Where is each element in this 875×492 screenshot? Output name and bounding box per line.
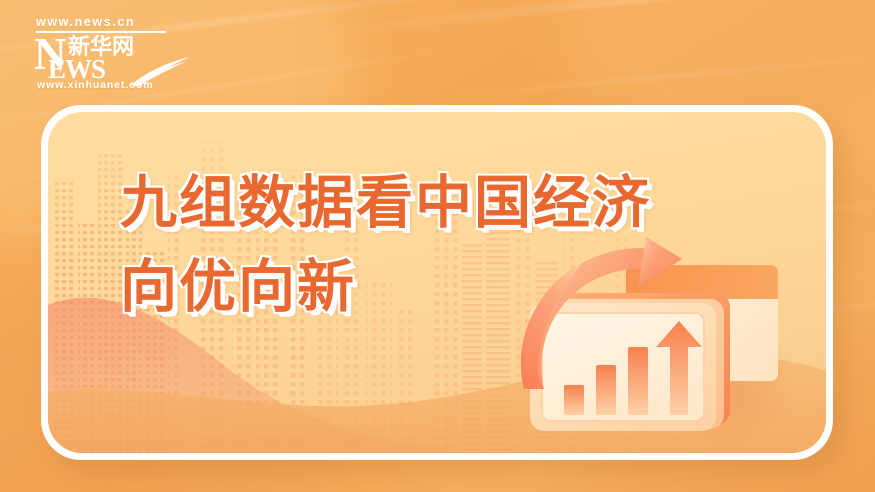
light-streak <box>300 0 875 39</box>
logo-wordmark: N 新华网 EWS <box>34 34 184 80</box>
headline-card: 九组数据看中国经济 向优向新 <box>41 105 833 460</box>
chart-bar <box>596 365 616 415</box>
economy-growth-illustration <box>506 237 806 447</box>
chart-bar <box>628 347 648 415</box>
logo-news-word: EWS <box>48 56 105 83</box>
swoosh-icon <box>130 56 192 86</box>
poster-root: www.news.cn N 新华网 EWS www.xinhuanet.com <box>0 0 875 492</box>
headline-line-2: 向优向新 <box>120 251 550 323</box>
headline-card-inner: 九组数据看中国经济 向优向新 <box>48 112 826 453</box>
light-streak <box>430 50 875 100</box>
headline-line-1: 九组数据看中国经济 <box>120 167 550 239</box>
xinhuanet-logo[interactable]: www.news.cn N 新华网 EWS www.xinhuanet.com <box>34 16 184 96</box>
headline: 九组数据看中国经济 向优向新 <box>120 167 550 323</box>
chart-bar <box>564 385 584 415</box>
logo-top-url: www.news.cn <box>34 16 184 29</box>
bar-chart-card-icon <box>530 303 716 431</box>
